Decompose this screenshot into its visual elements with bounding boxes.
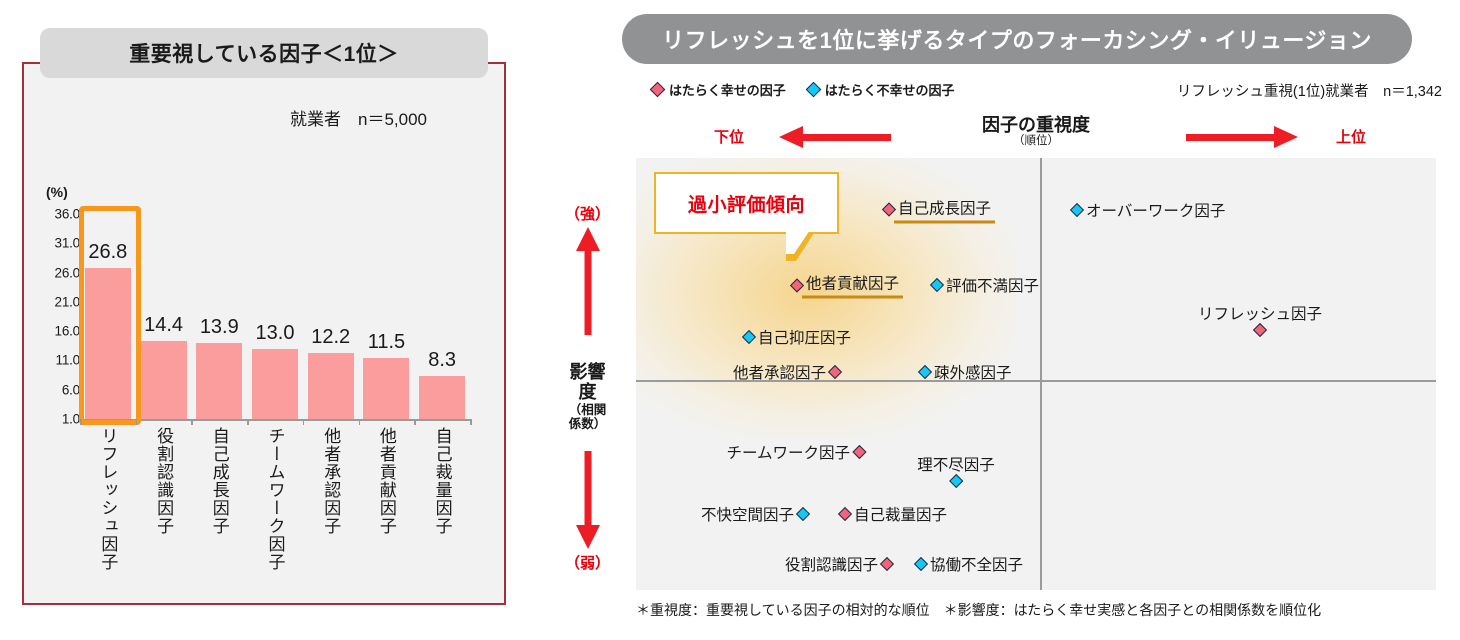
bar-rect	[308, 353, 354, 419]
scatter-point[interactable]: 自己裁量因子	[840, 503, 951, 525]
x-axis-tick-mark	[247, 419, 249, 425]
bar-chart-sample-size: 就業者 n＝5,000	[290, 105, 427, 130]
scatter-point-label: オーバーワーク因子	[1082, 199, 1229, 221]
bar-rect	[196, 343, 242, 419]
x-axis-tick-mark	[414, 419, 416, 425]
left-arrow-head-icon	[779, 126, 803, 148]
x-axis-tick-mark	[191, 419, 193, 425]
callout-label: 過小評価傾向	[688, 190, 805, 217]
bar-column[interactable]: 13.9	[196, 214, 242, 419]
scatter-point-label: 自己裁量因子	[850, 503, 951, 525]
y-axis-subtitle: （相関係数）	[566, 403, 609, 432]
bar-category-label: チームワーク因子	[267, 427, 284, 571]
bar-value-label: 8.3	[407, 349, 477, 372]
y-axis-tick: 6.0	[62, 382, 80, 397]
pink-diamond-icon	[828, 365, 842, 379]
bar-column[interactable]: 12.2	[308, 214, 354, 419]
pink-diamond-icon	[880, 557, 894, 571]
y-axis-tick: 36.0	[55, 207, 80, 222]
bar-rect	[363, 358, 409, 420]
y-axis-strong-label: （強）	[565, 203, 610, 224]
y-axis-tick: 11.0	[56, 353, 80, 368]
scatter-point-label: 疎外感因子	[930, 361, 1016, 383]
bar-chart-title: 重要視している因子＜1位＞	[40, 28, 488, 78]
scatter-point-label: 評価不満因子	[942, 274, 1043, 296]
x-axis-subtitle: （順位）	[982, 135, 1090, 148]
scatter-point[interactable]: 他者承認因子	[729, 361, 840, 383]
legend-label: はたらく幸せの因子	[669, 80, 786, 99]
scatter-point-label: 不快空間因子	[697, 503, 798, 525]
x-axis-header: 因子の重視度 （順位） 下位 上位	[636, 118, 1436, 160]
scatter-point[interactable]: オーバーワーク因子	[1072, 199, 1229, 221]
scatter-point[interactable]: チームワーク因子	[722, 441, 864, 463]
bar-category-label: 自己成長因子	[211, 427, 228, 535]
up-arrow-shaft-icon	[584, 247, 591, 335]
bar-category-label: 他者承認因子	[322, 427, 339, 535]
down-arrow-shaft-icon	[584, 451, 591, 529]
pink-diamond-icon	[650, 82, 666, 98]
x-axis-low-label: 下位	[714, 126, 744, 147]
scatter-point[interactable]: 役割認識因子	[781, 553, 892, 575]
scatter-point[interactable]: 協働不全因子	[916, 553, 1027, 575]
cyan-diamond-icon	[949, 474, 963, 488]
bar-rect	[252, 349, 298, 419]
scatter-legend: はたらく幸せの因子はたらく不幸せの因子	[652, 80, 955, 99]
scatter-point-label: 自己抑圧因子	[754, 326, 855, 348]
scatter-point-label: 他者承認因子	[729, 361, 830, 383]
scatter-point[interactable]: 疎外感因子	[920, 361, 1016, 383]
footnote: ＊重視度：重要視している因子の相対的な順位 ＊影響度：はたらく幸せ実感と各因子と…	[636, 600, 1321, 620]
legend-label: はたらく不幸せの因子	[825, 80, 955, 99]
bar-category-label: 自己裁量因子	[434, 427, 451, 535]
scatter-sample-size: リフレッシュ重視(1位)就業者 n＝1,342	[1177, 80, 1442, 101]
x-axis-tick-mark	[470, 419, 472, 425]
scatter-point[interactable]: 理不尽因子	[917, 452, 995, 486]
bar-chart-unit-label: (%)	[46, 184, 68, 200]
scatter-point-label: チームワーク因子	[722, 441, 854, 463]
scatter-point[interactable]: 自己抑圧因子	[744, 326, 855, 348]
bar-category-label: 役割認識因子	[155, 427, 172, 535]
y-axis-tick: 21.0	[55, 294, 80, 309]
bar-column[interactable]: 11.5	[363, 214, 409, 419]
x-axis-tick-mark	[136, 419, 138, 425]
down-arrow-head-icon	[576, 525, 600, 549]
y-axis-title-group: 影響度 （相関係数）	[566, 363, 609, 431]
bar-column[interactable]: 13.0	[252, 214, 298, 419]
bar-category-label: 他者貢献因子	[378, 427, 395, 535]
x-axis-high-label: 上位	[1336, 126, 1366, 147]
scatter-point[interactable]: 他者貢献因子	[792, 272, 903, 299]
right-arrow-head-icon	[1274, 126, 1298, 148]
x-axis-tick-mark	[359, 419, 361, 425]
y-axis-header: （強） 影響度 （相関係数） （弱）	[545, 175, 630, 575]
y-axis-title: 影響度	[566, 363, 609, 403]
scatter-point-label: 役割認識因子	[781, 553, 882, 575]
bar-column[interactable]: 14.4	[141, 214, 187, 419]
scatter-point-label: 協働不全因子	[926, 553, 1027, 575]
legend-item: はたらく幸せの因子	[652, 80, 786, 99]
x-axis-title-group: 因子の重視度 （順位）	[982, 116, 1090, 148]
left-arrow-shaft-icon	[801, 134, 891, 141]
bar-rect	[141, 341, 187, 419]
scatter-point-label: 理不尽因子	[917, 452, 995, 476]
vertical-divider	[1040, 158, 1042, 590]
scatter-point[interactable]: 評価不満因子	[932, 274, 1043, 296]
bar-rect	[419, 376, 465, 419]
cyan-diamond-icon	[796, 507, 810, 521]
y-axis-tick: 1.0	[62, 412, 80, 427]
scatter-point[interactable]: 自己成長因子	[884, 196, 995, 223]
x-axis-tick-mark	[80, 419, 82, 425]
y-axis-tick: 16.0	[55, 324, 80, 339]
scatter-point[interactable]: 不快空間因子	[697, 503, 808, 525]
y-axis-weak-label: （弱）	[565, 552, 610, 573]
scatter-point-label: 自己成長因子	[894, 196, 995, 223]
y-axis-tick: 26.0	[55, 265, 80, 280]
highlight-box	[79, 206, 141, 425]
legend-item: はたらく不幸せの因子	[808, 80, 955, 99]
scatter-point[interactable]: リフレッシュ因子	[1198, 301, 1322, 335]
scatter-plot-area: 過小評価傾向 自己成長因子他者貢献因子他者承認因子リフレッシュ因子チームワーク因…	[636, 158, 1436, 590]
right-arrow-shaft-icon	[1186, 134, 1276, 141]
x-axis-tick-mark	[303, 419, 305, 425]
pink-diamond-icon	[852, 445, 866, 459]
scatter-point-label: 他者貢献因子	[802, 272, 903, 299]
pink-diamond-icon	[1253, 323, 1267, 337]
scatter-point-label: リフレッシュ因子	[1198, 301, 1322, 325]
cyan-diamond-icon	[805, 82, 821, 98]
x-axis-title: 因子の重視度	[982, 116, 1090, 135]
scatter-title: リフレッシュを1位に挙げるタイプのフォーカシング・イリュージョン	[622, 14, 1412, 64]
callout-tail-fill-icon	[786, 230, 810, 254]
callout-box: 過小評価傾向	[654, 172, 839, 234]
bar-category-label: リフレッシュ因子	[99, 427, 116, 571]
bar-column[interactable]: 8.3	[419, 214, 465, 419]
